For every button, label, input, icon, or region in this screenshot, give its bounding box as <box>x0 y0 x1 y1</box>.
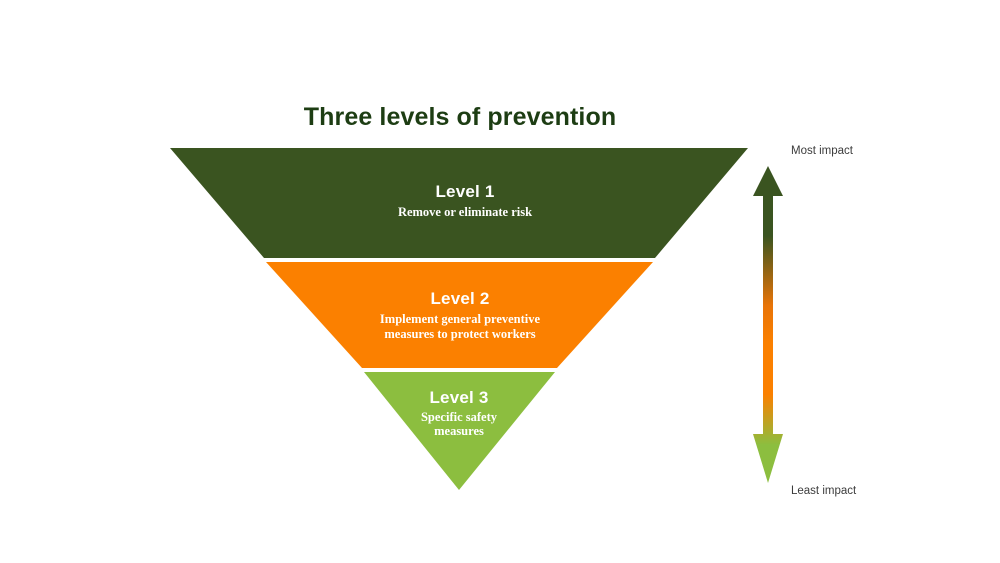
most-impact-label: Most impact <box>791 145 853 157</box>
least-impact-label: Least impact <box>791 485 856 497</box>
prevention-funnel-graphic <box>0 0 1000 563</box>
diagram-canvas: Three levels of prevention Level 1 Remov… <box>0 0 1000 563</box>
funnel-band-level-3 <box>364 372 555 490</box>
impact-arrow <box>753 166 783 483</box>
funnel-band-level-2 <box>266 262 653 368</box>
funnel-band-level-1 <box>170 148 748 258</box>
